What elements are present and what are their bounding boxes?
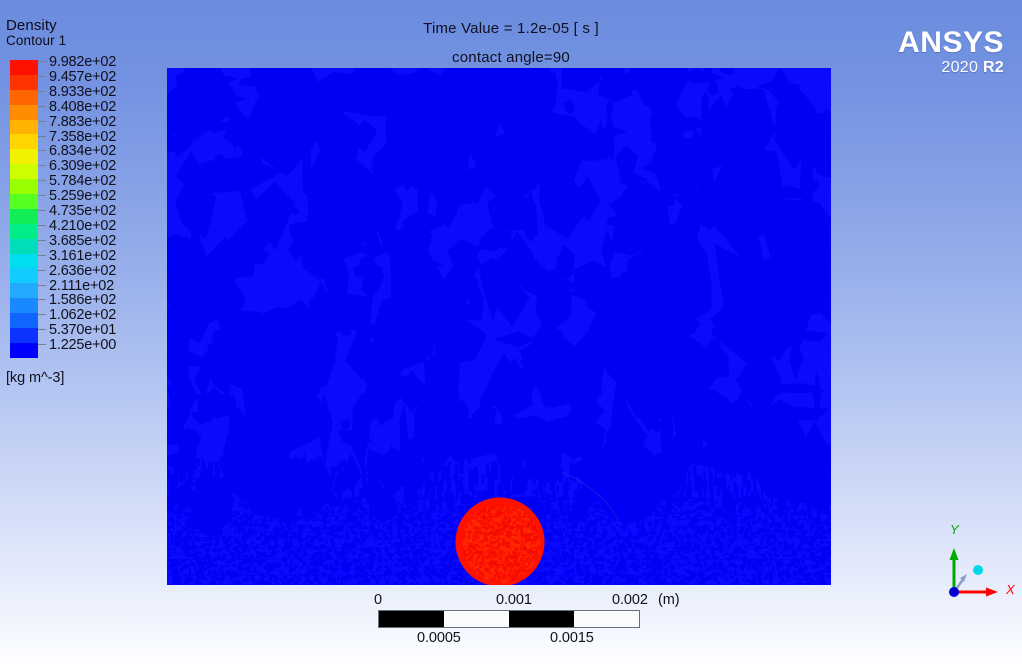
mesh-cell <box>676 526 677 529</box>
mesh-cell <box>751 543 755 546</box>
mesh-cell <box>572 523 576 526</box>
mesh-cell <box>763 525 766 527</box>
mesh-cell <box>352 512 355 513</box>
mesh-cell <box>668 533 669 537</box>
mesh-cell <box>316 533 318 537</box>
mesh-cell <box>820 579 822 582</box>
mesh-cell <box>608 519 611 522</box>
mesh-cell <box>451 563 455 566</box>
mesh-cell <box>432 522 434 525</box>
mesh-cell <box>698 543 700 547</box>
mesh-cell <box>301 549 303 551</box>
mesh-cell <box>410 542 413 544</box>
mesh-cell <box>762 577 764 578</box>
mesh-cell <box>244 533 246 536</box>
mesh-cell <box>248 516 252 518</box>
mesh-cell <box>775 554 777 556</box>
mesh-cell <box>301 524 305 528</box>
mesh-cell <box>222 500 224 501</box>
mesh-cell <box>389 578 390 582</box>
colorbar-band <box>10 328 38 343</box>
mesh-cell <box>708 517 712 520</box>
mesh-cell <box>229 579 230 581</box>
mesh-cell <box>447 520 452 524</box>
mesh-cell <box>746 507 750 509</box>
mesh-cell <box>748 542 749 546</box>
mesh-cell <box>406 557 408 558</box>
mesh-cell <box>734 536 736 537</box>
mesh-cell <box>659 505 664 508</box>
mesh-cell <box>348 548 351 553</box>
mesh-cell <box>348 555 350 557</box>
mesh-cell <box>468 577 469 579</box>
mesh-cell <box>557 550 560 553</box>
mesh-cell <box>187 541 189 542</box>
mesh-cell <box>250 514 253 516</box>
mesh-cell <box>339 577 341 579</box>
mesh-cell <box>579 549 583 552</box>
mesh-cell <box>560 562 562 563</box>
mesh-cell <box>417 541 420 543</box>
mesh-cell <box>168 542 170 546</box>
mesh-cell <box>348 517 352 518</box>
mesh-cell <box>553 509 555 512</box>
colorbar-band <box>10 179 38 194</box>
colorbar-band <box>10 75 38 90</box>
mesh-cell <box>310 543 314 548</box>
mesh-cell <box>561 529 565 531</box>
mesh-cell <box>786 556 787 557</box>
mesh-cell <box>745 506 749 507</box>
mesh-cell <box>182 550 184 551</box>
mesh-cell <box>334 578 336 581</box>
mesh-cell <box>663 578 666 580</box>
mesh-cell <box>209 581 211 584</box>
color-legend[interactable]: 9.982e+029.457e+028.933e+028.408e+027.88… <box>10 60 150 360</box>
mesh-cell <box>331 509 334 512</box>
colorbar-label: 4.210e+02 <box>49 219 116 233</box>
mesh-cell <box>253 571 254 574</box>
mesh-cell <box>571 569 574 572</box>
mesh-cell <box>330 554 332 558</box>
mesh-cell <box>248 561 251 564</box>
mesh-cell <box>620 552 622 556</box>
mesh-cell <box>226 544 230 547</box>
colorbar-label: 3.161e+02 <box>49 249 116 263</box>
mesh-cell <box>582 539 586 542</box>
mesh-cell <box>573 527 576 529</box>
mesh-cell <box>363 527 368 529</box>
mesh-cell <box>686 516 690 519</box>
mesh-cell <box>429 540 431 542</box>
mesh-cell <box>808 507 811 509</box>
mesh-cell <box>200 562 202 566</box>
colorbar-tick <box>38 344 46 345</box>
mesh-cell <box>676 528 679 530</box>
colorbar-band <box>10 194 38 209</box>
mesh-cell <box>729 571 731 573</box>
colorbar-tick <box>38 225 46 226</box>
mesh-cell <box>734 517 735 519</box>
mesh-cell <box>670 526 672 527</box>
mesh-cell <box>414 533 416 537</box>
mesh-cell <box>230 553 234 556</box>
mesh-cell <box>203 516 206 518</box>
mesh-cell <box>173 528 175 530</box>
mesh-cell <box>284 542 287 546</box>
mesh-cell <box>711 555 713 558</box>
colorbar-label: 8.408e+02 <box>49 100 116 114</box>
mesh-cell <box>273 549 276 551</box>
mesh-cell <box>747 567 751 570</box>
mesh-cell <box>760 528 764 532</box>
mesh-cell <box>168 521 171 522</box>
mesh-cell <box>390 572 392 575</box>
mesh-cell <box>787 510 789 512</box>
mesh-cell <box>396 502 399 504</box>
mesh-cell <box>211 517 213 519</box>
mesh-cell <box>653 523 655 526</box>
mesh-cell <box>178 576 180 579</box>
mesh-cell <box>282 514 286 516</box>
colorbar-tick <box>38 91 46 92</box>
mesh-cell <box>740 574 741 575</box>
mesh-cell <box>465 579 467 582</box>
mesh-cell <box>371 561 374 564</box>
mesh-cell <box>724 515 728 516</box>
mesh-cell <box>349 524 351 525</box>
mesh-cell <box>379 551 382 553</box>
mesh-cell <box>456 572 461 574</box>
mesh-cell <box>799 573 801 577</box>
mesh-cell <box>825 541 829 543</box>
mesh-cell <box>458 515 460 516</box>
mesh-cell <box>442 533 444 536</box>
mesh-cell <box>378 574 382 578</box>
mesh-cell <box>400 507 404 511</box>
colorbar-band <box>10 313 38 328</box>
mesh-cell <box>339 521 341 524</box>
mesh-cell <box>668 551 672 553</box>
mesh-cell <box>205 550 206 551</box>
mesh-cell <box>317 549 321 551</box>
mesh-cell <box>600 504 603 506</box>
colorbar-label: 6.309e+02 <box>49 159 116 173</box>
mesh-cell <box>411 571 413 573</box>
mesh-cell <box>666 524 668 525</box>
mesh-cell <box>608 516 610 518</box>
colorbar-band <box>10 239 38 254</box>
mesh-cell <box>543 556 545 558</box>
mesh-cell <box>226 570 230 574</box>
mesh-cell <box>400 543 403 547</box>
colorbar-label: 1.225e+00 <box>49 338 116 352</box>
mesh-cell <box>757 576 761 580</box>
mesh-cell <box>375 539 376 544</box>
mesh-cell <box>736 526 738 529</box>
colorbar-label: 5.259e+02 <box>49 189 116 203</box>
mesh-cell <box>538 498 542 500</box>
colorbar-tick <box>38 195 46 196</box>
mesh-cell <box>449 525 451 528</box>
mesh-cell <box>193 553 194 554</box>
mesh-cell <box>710 541 711 542</box>
mesh-cell <box>790 555 794 556</box>
mesh-cell <box>319 540 321 541</box>
mesh-cell <box>647 576 649 577</box>
mesh-cell <box>742 542 743 547</box>
mesh-cell <box>474 580 477 581</box>
mesh-cell <box>610 567 613 571</box>
mesh-cell <box>355 521 356 525</box>
mesh-cell <box>185 543 188 546</box>
mesh-cell <box>641 563 645 565</box>
mesh-cell <box>794 577 798 579</box>
mesh-cell <box>830 570 831 573</box>
mesh-cell <box>260 564 262 566</box>
mesh-cell <box>605 523 609 526</box>
mesh-cell <box>421 534 424 536</box>
mesh-cell <box>816 552 819 553</box>
mesh-cell <box>670 553 673 557</box>
mesh-cell <box>679 526 681 528</box>
mesh-cell <box>614 552 617 554</box>
mesh-cell <box>243 525 245 528</box>
mesh-cell <box>661 523 664 525</box>
mesh-cell <box>308 516 312 520</box>
mesh-cell <box>290 568 295 569</box>
mesh-cell <box>405 553 408 555</box>
mesh-cell <box>818 514 821 517</box>
mesh-cell <box>175 503 179 505</box>
mesh-cell <box>243 570 246 571</box>
mesh-cell <box>567 515 569 518</box>
mesh-cell <box>649 500 651 503</box>
ansys-version: 2020 R2 <box>898 58 1004 78</box>
mesh-cell <box>748 500 750 503</box>
mesh-cell <box>828 566 831 569</box>
mesh-cell <box>720 528 722 530</box>
mesh-cell <box>537 577 541 581</box>
mesh-cell <box>795 527 797 529</box>
mesh-cell <box>591 525 594 529</box>
mesh-cell <box>701 515 704 517</box>
mesh-cell <box>208 549 210 552</box>
mesh-cell <box>584 509 588 510</box>
mesh-cell <box>228 525 231 528</box>
mesh-cell <box>426 555 429 557</box>
mesh-cell <box>245 525 248 527</box>
mesh-cell <box>442 539 446 541</box>
mesh-cell <box>632 515 635 518</box>
mesh-cell <box>572 506 576 508</box>
colorbar-tick <box>38 210 46 211</box>
contour-plot-area[interactable] <box>167 68 831 585</box>
colorbar-band <box>10 209 38 224</box>
mesh-cell <box>682 546 684 548</box>
mesh-cell <box>696 579 697 583</box>
mesh-cell <box>346 533 347 537</box>
mesh-cell <box>400 504 403 506</box>
mesh-cell <box>788 567 791 570</box>
mesh-cell <box>653 553 657 555</box>
mesh-cell <box>447 551 451 554</box>
colorbar-band <box>10 90 38 105</box>
colorbar-label: 3.685e+02 <box>49 234 116 248</box>
mesh-cell <box>675 543 679 546</box>
mesh-cell <box>326 527 329 530</box>
mesh-cell <box>664 569 667 571</box>
mesh-cell <box>248 566 249 570</box>
mesh-cell <box>242 515 244 518</box>
mesh-cell <box>361 553 364 555</box>
mesh-cell <box>355 564 357 568</box>
mesh-cell <box>349 529 352 531</box>
mesh-cell <box>419 566 421 568</box>
mesh-cell <box>634 579 635 582</box>
mesh-cell <box>557 524 559 526</box>
mesh-cell <box>662 519 666 523</box>
colorbar-tick <box>38 150 46 151</box>
mesh-cell <box>545 522 547 527</box>
mesh-cell <box>305 562 307 563</box>
colorbar-label: 1.062e+02 <box>49 308 116 322</box>
mesh-cell <box>786 571 790 575</box>
mesh-cell <box>797 513 802 516</box>
mesh-cell <box>783 550 786 552</box>
mesh-cell <box>828 513 830 518</box>
mesh-cell <box>623 523 627 527</box>
mesh-cell <box>379 560 383 561</box>
mesh-cell <box>293 523 294 526</box>
mesh-cell <box>450 556 453 559</box>
mesh-cell <box>800 573 804 575</box>
mesh-cell <box>424 551 429 554</box>
mesh-cell <box>749 523 751 526</box>
mesh-cell <box>198 540 202 542</box>
mesh-cell <box>429 529 431 531</box>
mesh-cell <box>193 546 195 547</box>
mesh-cell <box>767 562 769 565</box>
mesh-cell <box>439 533 443 536</box>
mesh-cell <box>383 540 385 543</box>
mesh-cell <box>732 514 735 515</box>
mesh-cell <box>346 523 349 525</box>
mesh-cell <box>551 571 555 574</box>
mesh-cell <box>828 527 829 529</box>
mesh-cell <box>269 499 272 503</box>
colorbar-tick <box>38 106 46 107</box>
mesh-cell <box>424 571 428 573</box>
mesh-cell <box>184 509 187 510</box>
mesh-cell <box>240 518 242 520</box>
mesh-cell <box>409 569 411 571</box>
mesh-cell <box>716 562 719 563</box>
mesh-cell <box>601 523 604 526</box>
mesh-cell <box>827 547 830 551</box>
mesh-cell <box>310 580 313 584</box>
mesh-cell <box>178 522 181 525</box>
mesh-cell <box>167 580 169 582</box>
mesh-cell <box>649 513 651 517</box>
mesh-cell <box>704 563 707 567</box>
mesh-cell <box>707 576 710 579</box>
mesh-cell <box>589 556 591 557</box>
mesh-cell <box>601 517 605 519</box>
mesh-cell <box>803 549 805 550</box>
mesh-cell <box>693 540 695 544</box>
mesh-cell <box>376 547 379 551</box>
mesh-cell <box>367 514 370 516</box>
mesh-cell <box>565 504 567 506</box>
mesh-cell <box>706 569 710 572</box>
mesh-cell <box>748 526 751 529</box>
mesh-cell <box>431 558 433 562</box>
mesh-cell <box>739 551 743 553</box>
mesh-cell <box>231 512 232 516</box>
mesh-cell <box>171 524 173 527</box>
mesh-cell <box>649 552 652 555</box>
mesh-cell <box>689 504 692 506</box>
mesh-cell <box>451 550 454 555</box>
mesh-cell <box>815 530 818 532</box>
mesh-cell <box>686 541 688 545</box>
mesh-cell <box>678 562 680 563</box>
mesh-cell <box>801 544 804 546</box>
mesh-cell <box>742 579 744 581</box>
mesh-cell <box>605 546 607 547</box>
mesh-cell <box>314 560 318 564</box>
mesh-cell <box>707 566 711 567</box>
colorbar-tick <box>38 299 46 300</box>
mesh-cell <box>765 518 768 520</box>
mesh-cell <box>783 555 786 557</box>
mesh-cell <box>552 566 556 569</box>
colorbar-tick <box>38 76 46 77</box>
mesh-cell <box>264 520 266 524</box>
mesh-cell <box>650 523 653 526</box>
mesh-cell <box>616 539 620 540</box>
mesh-cell <box>345 538 347 539</box>
mesh-cell <box>639 544 640 547</box>
mesh-cell <box>755 560 759 564</box>
mesh-cell <box>781 572 783 573</box>
mesh-cell <box>365 534 369 537</box>
mesh-cell <box>327 580 329 583</box>
mesh-cell <box>755 577 757 581</box>
mesh-cell <box>439 552 441 556</box>
mesh-cell <box>398 531 400 535</box>
mesh-cell <box>714 539 716 541</box>
mesh-cell <box>701 551 705 555</box>
colorbar-tick <box>38 270 46 271</box>
mesh-cell <box>376 579 380 583</box>
mesh-cell <box>652 551 654 554</box>
mesh-cell <box>191 559 192 564</box>
mesh-cell <box>706 505 710 510</box>
mesh-cell <box>592 580 594 584</box>
mesh-cell <box>558 533 561 536</box>
mesh-cell <box>174 581 178 584</box>
mesh-cell <box>242 579 245 582</box>
mesh-cell <box>326 539 328 543</box>
mesh-cell <box>674 509 676 512</box>
mesh-cell <box>682 501 684 505</box>
mesh-cell <box>663 561 666 565</box>
mesh-cell <box>421 503 423 505</box>
mesh-cell <box>771 515 774 518</box>
mesh-cell <box>778 541 782 545</box>
